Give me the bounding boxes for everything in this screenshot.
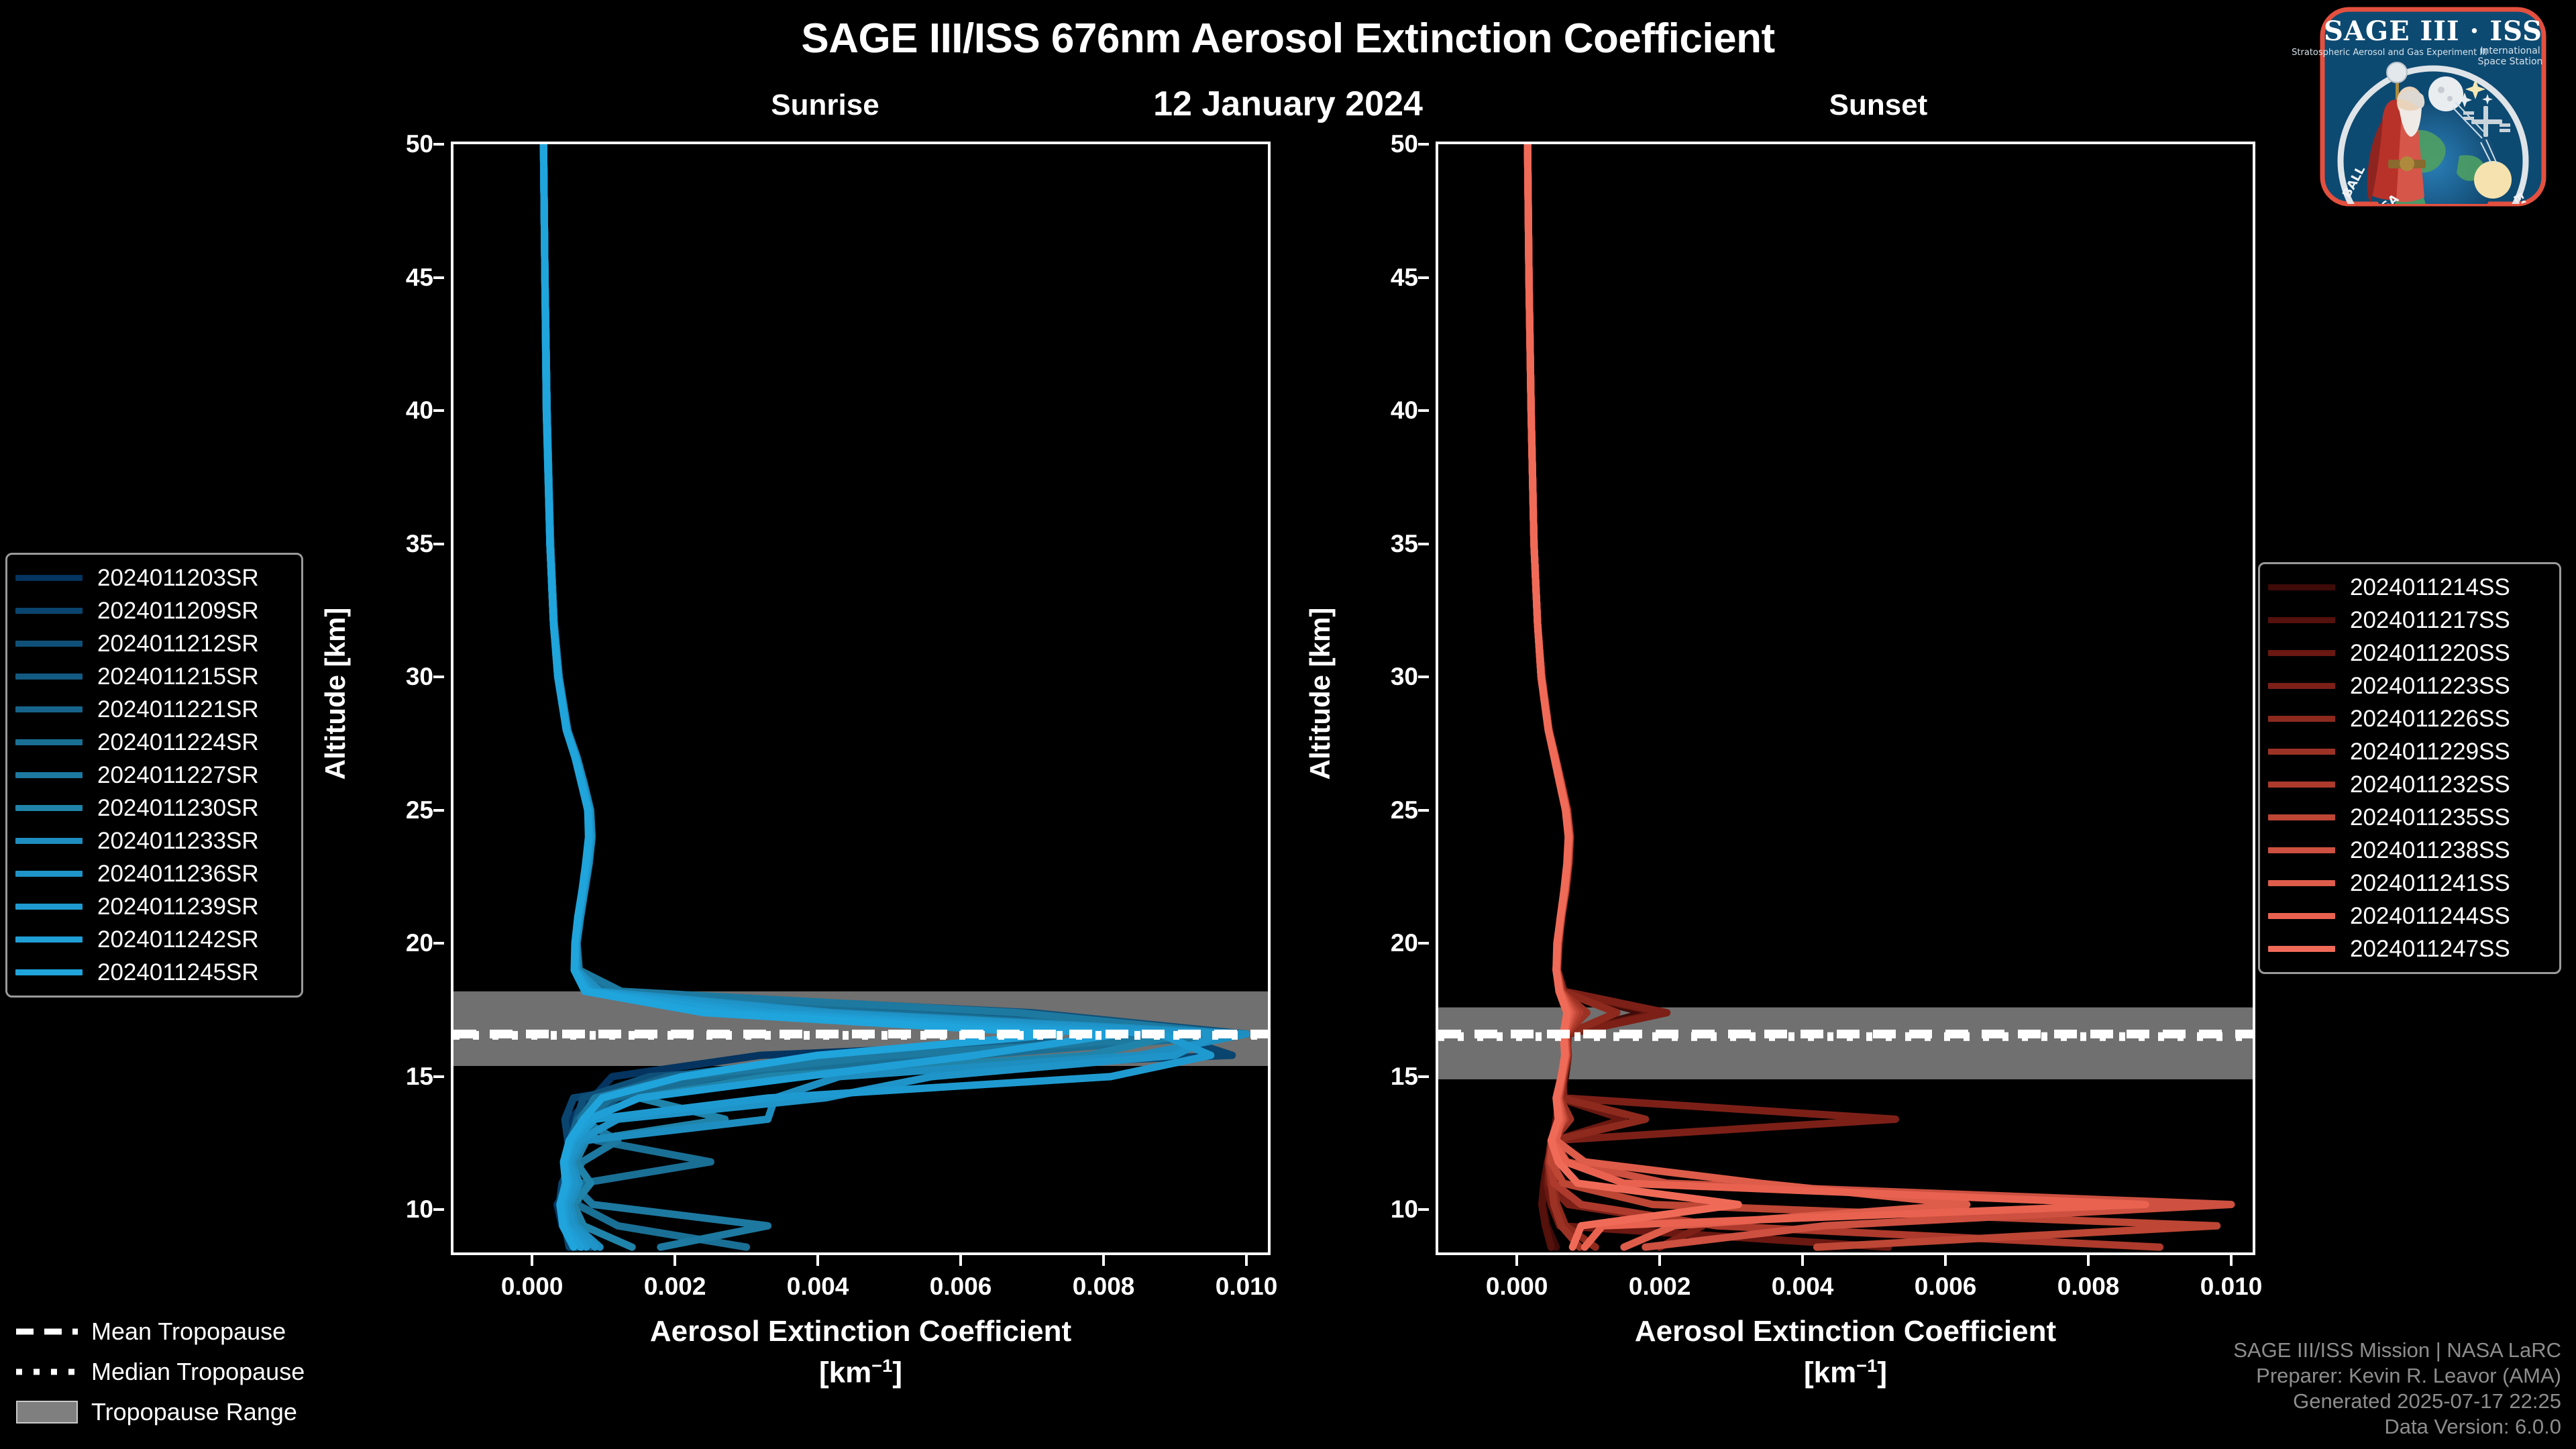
series-line bbox=[1527, 144, 2231, 1247]
legend-item-label: 2024011233SR bbox=[97, 828, 259, 855]
legend-item[interactable]: 2024011203SR bbox=[15, 561, 292, 594]
legend-color-swatch bbox=[2268, 782, 2335, 788]
sunset-panel-title: Sunset bbox=[1690, 89, 2066, 122]
y-tick-mark bbox=[1418, 409, 1429, 412]
legend-item[interactable]: 2024011242SR bbox=[15, 923, 292, 956]
x-tick-mark bbox=[1801, 1255, 1804, 1266]
legend-item[interactable]: 2024011230SR bbox=[15, 792, 292, 824]
y-tick-label: 30 bbox=[406, 663, 433, 691]
sunset-x-axis-label: Aerosol Extinction Coefficient bbox=[1436, 1315, 2255, 1348]
legend-item-label: 2024011236SR bbox=[97, 861, 259, 888]
legend-item-label: 2024011245SR bbox=[97, 959, 259, 986]
series-line bbox=[1527, 144, 2217, 1247]
x-tick-mark bbox=[1515, 1255, 1518, 1266]
legend-color-swatch bbox=[2268, 880, 2335, 886]
legend-item[interactable]: 2024011245SR bbox=[15, 956, 292, 989]
median-tropopause-label: Median Tropopause bbox=[91, 1358, 305, 1386]
legend-color-swatch bbox=[15, 936, 83, 943]
y-tick-label: 20 bbox=[406, 929, 433, 957]
y-tick-mark bbox=[1418, 942, 1429, 945]
y-tick-label: 30 bbox=[1391, 663, 1418, 691]
x-tick-mark bbox=[1245, 1255, 1248, 1266]
y-tick-label: 50 bbox=[406, 130, 433, 158]
y-tick-mark bbox=[1418, 809, 1429, 812]
legend-item-label: 2024011247SS bbox=[2350, 936, 2510, 963]
legend-color-swatch bbox=[2268, 749, 2335, 755]
x-tick-mark bbox=[2230, 1255, 2233, 1266]
sunrise-panel-title: Sunrise bbox=[644, 89, 1006, 122]
x-tick-label: 0.008 bbox=[1073, 1273, 1135, 1301]
legend-item-label: 2024011239SR bbox=[97, 894, 259, 920]
logo-subtitle-left: Stratospheric Aerosol and Gas Experiment… bbox=[2292, 48, 2487, 58]
legend-item[interactable]: 2024011220SS bbox=[2268, 637, 2550, 669]
y-tick-label: 40 bbox=[1391, 396, 1418, 425]
legend-item[interactable]: 2024011214SS bbox=[2268, 571, 2550, 604]
x-tick-label: 0.010 bbox=[1216, 1273, 1278, 1301]
x-tick-mark bbox=[1102, 1255, 1105, 1266]
y-tick-mark bbox=[433, 543, 444, 545]
credit-block: SAGE III/ISS Mission | NASA LaRC Prepare… bbox=[2233, 1338, 2561, 1440]
tropopause-legend: Mean Tropopause Median Tropopause Tropop… bbox=[16, 1311, 365, 1432]
x-tick-mark bbox=[2087, 1255, 2090, 1266]
y-tick-label: 10 bbox=[1391, 1195, 1418, 1224]
sunrise-x-axis-label: Aerosol Extinction Coefficient bbox=[451, 1315, 1271, 1348]
legend-color-swatch bbox=[15, 969, 83, 975]
sunset-legend[interactable]: 2024011214SS2024011217SS2024011220SS2024… bbox=[2258, 562, 2561, 974]
logo-subtitle-right-2: Space Station bbox=[2478, 56, 2543, 67]
sage-iii-iss-logo: BALL · NASA TAS-I ESA SAGE III · ISS Str… bbox=[2270, 0, 2573, 228]
credit-line-version: Data Version: 6.0.0 bbox=[2233, 1414, 2561, 1440]
sunset-plot-svg bbox=[1438, 144, 2253, 1252]
y-tick-mark bbox=[433, 143, 444, 146]
x-tick-label: 0.002 bbox=[1629, 1273, 1691, 1301]
page-title: SAGE III/ISS 676nm Aerosol Extinction Co… bbox=[0, 15, 2576, 62]
legend-item[interactable]: 2024011212SR bbox=[15, 627, 292, 660]
sunset-y-axis-label: Altitude [km] bbox=[1304, 559, 1336, 828]
figure-root: SAGE III/ISS 676nm Aerosol Extinction Co… bbox=[0, 0, 2576, 1449]
svg-text:TAS-I: TAS-I bbox=[2489, 213, 2524, 228]
legend-color-swatch bbox=[15, 838, 83, 844]
y-tick-mark bbox=[433, 409, 444, 412]
legend-item-label: 2024011238SS bbox=[2350, 837, 2510, 864]
legend-item[interactable]: 2024011229SS bbox=[2268, 735, 2550, 768]
sunset-plot-area bbox=[1436, 142, 2255, 1255]
sunset-x-axis-unit: [km−1] bbox=[1436, 1355, 2255, 1390]
credit-line-generated: Generated 2025-07-17 22:25 bbox=[2233, 1389, 2561, 1414]
sunrise-plot-svg bbox=[453, 144, 1268, 1252]
y-tick-mark bbox=[433, 276, 444, 279]
legend-color-swatch bbox=[2268, 913, 2335, 919]
legend-color-swatch bbox=[15, 641, 83, 647]
legend-item[interactable]: 2024011244SS bbox=[2268, 900, 2550, 932]
y-tick-label: 25 bbox=[406, 796, 433, 824]
y-tick-mark bbox=[1418, 543, 1429, 545]
y-tick-mark bbox=[1418, 276, 1429, 279]
legend-item-label: 2024011244SS bbox=[2350, 903, 2510, 930]
legend-item-label: 2024011220SS bbox=[2350, 640, 2510, 667]
mean-tropopause-label: Mean Tropopause bbox=[91, 1318, 286, 1346]
legend-item[interactable]: 2024011235SS bbox=[2268, 801, 2550, 834]
legend-color-swatch bbox=[15, 706, 83, 712]
legend-item[interactable]: 2024011217SS bbox=[2268, 604, 2550, 637]
x-tick-mark bbox=[674, 1255, 676, 1266]
y-tick-mark bbox=[433, 942, 444, 945]
legend-item-mean-tropopause: Mean Tropopause bbox=[16, 1311, 365, 1352]
svg-text:·: · bbox=[2357, 215, 2370, 228]
x-tick-mark bbox=[1658, 1255, 1661, 1266]
y-tick-label: 45 bbox=[406, 264, 433, 292]
legend-item-tropopause-range: Tropopause Range bbox=[16, 1392, 365, 1432]
x-tick-mark bbox=[816, 1255, 819, 1266]
y-tick-label: 45 bbox=[1391, 264, 1418, 292]
dotted-line-icon bbox=[16, 1363, 78, 1381]
y-tick-label: 35 bbox=[406, 530, 433, 558]
x-tick-mark bbox=[531, 1255, 533, 1266]
series-line bbox=[1527, 144, 1581, 1247]
legend-color-swatch bbox=[15, 575, 83, 581]
sunrise-y-axis-label: Altitude [km] bbox=[319, 559, 352, 828]
legend-item[interactable]: 2024011221SR bbox=[15, 693, 292, 726]
series-line bbox=[1527, 144, 1888, 1247]
legend-item[interactable]: 2024011226SS bbox=[2268, 702, 2550, 735]
x-tick-label: 0.004 bbox=[1772, 1273, 1834, 1301]
legend-item-label: 2024011203SR bbox=[97, 565, 259, 592]
x-tick-mark bbox=[959, 1255, 962, 1266]
legend-item[interactable]: 2024011239SR bbox=[15, 890, 292, 923]
legend-color-swatch bbox=[15, 608, 83, 614]
y-tick-label: 20 bbox=[1391, 929, 1418, 957]
x-tick-label: 0.002 bbox=[644, 1273, 706, 1301]
sunset-y-axis: 101520253035404550 bbox=[1328, 142, 1429, 1255]
legend-item-label: 2024011209SR bbox=[97, 598, 259, 625]
y-tick-label: 35 bbox=[1391, 530, 1418, 558]
legend-item[interactable]: 2024011247SS bbox=[2268, 932, 2550, 965]
x-tick-label: 0.006 bbox=[1915, 1273, 1977, 1301]
legend-item[interactable]: 2024011227SR bbox=[15, 759, 292, 792]
legend-item-label: 2024011212SR bbox=[97, 631, 259, 657]
y-tick-mark bbox=[433, 676, 444, 678]
legend-item[interactable]: 2024011215SR bbox=[15, 660, 292, 693]
legend-color-swatch bbox=[15, 871, 83, 877]
legend-color-swatch bbox=[15, 674, 83, 680]
legend-item[interactable]: 2024011224SR bbox=[15, 726, 292, 759]
x-tick-label: 0.004 bbox=[787, 1273, 849, 1301]
legend-item[interactable]: 2024011238SS bbox=[2268, 834, 2550, 867]
credit-line-preparer: Preparer: Kevin R. Leavor (AMA) bbox=[2233, 1363, 2561, 1389]
tropopause-range-label: Tropopause Range bbox=[91, 1398, 297, 1426]
legend-item[interactable]: 2024011241SS bbox=[2268, 867, 2550, 900]
legend-item[interactable]: 2024011233SR bbox=[15, 824, 292, 857]
legend-color-swatch bbox=[2268, 814, 2335, 820]
y-tick-label: 40 bbox=[406, 396, 433, 425]
y-tick-mark bbox=[433, 809, 444, 812]
legend-item[interactable]: 2024011223SS bbox=[2268, 669, 2550, 702]
legend-item[interactable]: 2024011232SS bbox=[2268, 768, 2550, 801]
x-tick-label: 0.000 bbox=[501, 1273, 563, 1301]
y-tick-mark bbox=[1418, 143, 1429, 146]
legend-item-label: 2024011224SR bbox=[97, 729, 259, 756]
legend-color-swatch bbox=[15, 904, 83, 910]
series-line bbox=[1527, 144, 2145, 1247]
legend-item-label: 2024011217SS bbox=[2350, 607, 2510, 634]
logo-title: SAGE III · ISS bbox=[2324, 15, 2542, 47]
legend-item-label: 2024011241SS bbox=[2350, 870, 2510, 897]
y-tick-label: 15 bbox=[406, 1063, 433, 1091]
sunrise-legend[interactable]: 2024011203SR2024011209SR2024011212SR2024… bbox=[5, 553, 303, 998]
legend-color-swatch bbox=[15, 805, 83, 811]
legend-color-swatch bbox=[2268, 716, 2335, 722]
series-line bbox=[1527, 144, 1967, 1247]
logo-subtitle-right-1: International bbox=[2480, 46, 2540, 56]
legend-item-label: 2024011221SR bbox=[97, 696, 259, 723]
legend-item[interactable]: 2024011209SR bbox=[15, 594, 292, 627]
y-tick-label: 50 bbox=[1391, 130, 1418, 158]
x-tick-mark bbox=[1944, 1255, 1947, 1266]
date-subtitle: 12 January 2024 bbox=[0, 84, 2576, 124]
legend-item-label: 2024011229SS bbox=[2350, 739, 2510, 765]
legend-color-swatch bbox=[2268, 650, 2335, 656]
legend-item-label: 2024011242SR bbox=[97, 926, 259, 953]
y-tick-label: 15 bbox=[1391, 1063, 1418, 1091]
legend-color-swatch bbox=[2268, 847, 2335, 853]
y-tick-mark bbox=[1418, 1208, 1429, 1211]
legend-item-label: 2024011215SR bbox=[97, 663, 259, 690]
filled-band-icon bbox=[16, 1403, 78, 1421]
legend-item-label: 2024011214SS bbox=[2350, 574, 2510, 601]
legend-item-label: 2024011230SR bbox=[97, 795, 259, 822]
x-tick-label: 0.006 bbox=[930, 1273, 992, 1301]
series-line bbox=[1527, 144, 1738, 1247]
x-tick-label: 0.010 bbox=[2200, 1273, 2263, 1301]
legend-item-median-tropopause: Median Tropopause bbox=[16, 1352, 365, 1392]
x-tick-label: 0.000 bbox=[1486, 1273, 1548, 1301]
legend-item-label: 2024011223SS bbox=[2350, 673, 2510, 700]
y-tick-label: 10 bbox=[406, 1195, 433, 1224]
legend-item-label: 2024011235SS bbox=[2350, 804, 2510, 831]
sunrise-plot-area bbox=[451, 142, 1271, 1255]
legend-color-swatch bbox=[2268, 617, 2335, 623]
series-line bbox=[1527, 144, 1895, 1247]
series-line bbox=[1527, 144, 2160, 1247]
series-line bbox=[543, 144, 1196, 1247]
y-tick-mark bbox=[433, 1075, 444, 1078]
sunrise-x-axis-unit: [km−1] bbox=[451, 1355, 1271, 1390]
credit-line-mission: SAGE III/ISS Mission | NASA LaRC bbox=[2233, 1338, 2561, 1363]
mission-patch-icon: BALL · NASA TAS-I ESA SAGE III · ISS Str… bbox=[2270, 0, 2573, 228]
legend-color-swatch bbox=[15, 772, 83, 778]
legend-color-swatch bbox=[2268, 946, 2335, 952]
legend-color-swatch bbox=[2268, 683, 2335, 689]
legend-item-label: 2024011232SS bbox=[2350, 771, 2510, 798]
legend-item-label: 2024011226SS bbox=[2350, 706, 2510, 733]
sunrise-y-axis: 101520253035404550 bbox=[343, 142, 444, 1255]
y-tick-mark bbox=[1418, 676, 1429, 678]
dashed-line-icon bbox=[16, 1323, 78, 1340]
y-tick-label: 25 bbox=[1391, 796, 1418, 824]
y-tick-mark bbox=[1418, 1075, 1429, 1078]
x-tick-label: 0.008 bbox=[2057, 1273, 2120, 1301]
legend-item-label: 2024011227SR bbox=[97, 762, 259, 789]
legend-color-swatch bbox=[2268, 584, 2335, 590]
y-tick-mark bbox=[433, 1208, 444, 1211]
legend-item[interactable]: 2024011236SR bbox=[15, 857, 292, 890]
legend-color-swatch bbox=[15, 739, 83, 745]
